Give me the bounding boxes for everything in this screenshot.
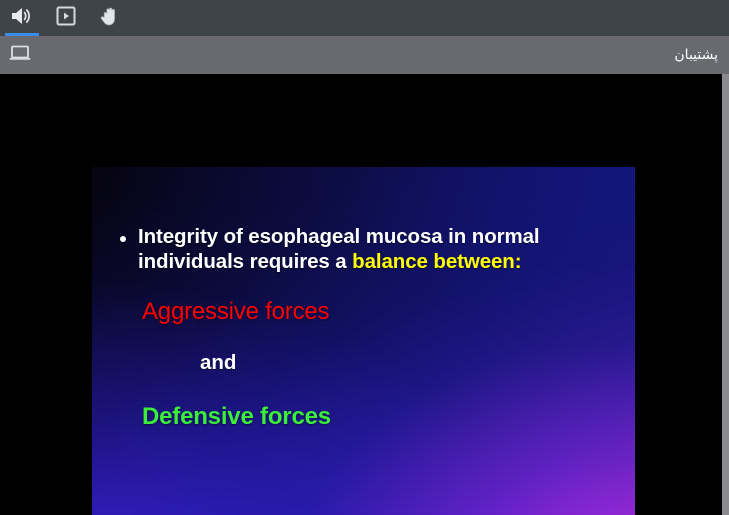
defensive-forces-text: Defensive forces <box>142 403 331 431</box>
slide-texture <box>92 167 635 515</box>
bullet-text: Integrity of esophageal mucosa in normal… <box>138 224 610 274</box>
hand-icon <box>99 4 121 33</box>
video-tab-button[interactable] <box>44 0 88 36</box>
audio-tab-button[interactable] <box>0 0 44 36</box>
aggressive-forces-text: Aggressive forces <box>142 298 329 326</box>
vertical-scrollbar-gutter[interactable] <box>722 74 729 515</box>
slide-viewer: Integrity of esophageal mucosa in normal… <box>0 74 722 515</box>
secondary-toolbar: پشتیبان <box>0 36 729 74</box>
laptop-icon <box>8 44 32 67</box>
screen-share-button[interactable] <box>0 36 40 74</box>
speaker-icon <box>10 5 34 32</box>
hand-tool-button[interactable] <box>88 0 132 36</box>
and-text: and <box>200 351 236 375</box>
top-toolbar <box>0 0 729 36</box>
presenter-label: پشتیبان <box>674 47 729 63</box>
video-play-icon <box>55 5 77 32</box>
slide-bullet-item: Integrity of esophageal mucosa in normal… <box>120 224 610 274</box>
bullet-text-highlight: balance between: <box>352 250 521 273</box>
presentation-slide: Integrity of esophageal mucosa in normal… <box>92 167 635 515</box>
bullet-dot-icon <box>120 236 126 242</box>
